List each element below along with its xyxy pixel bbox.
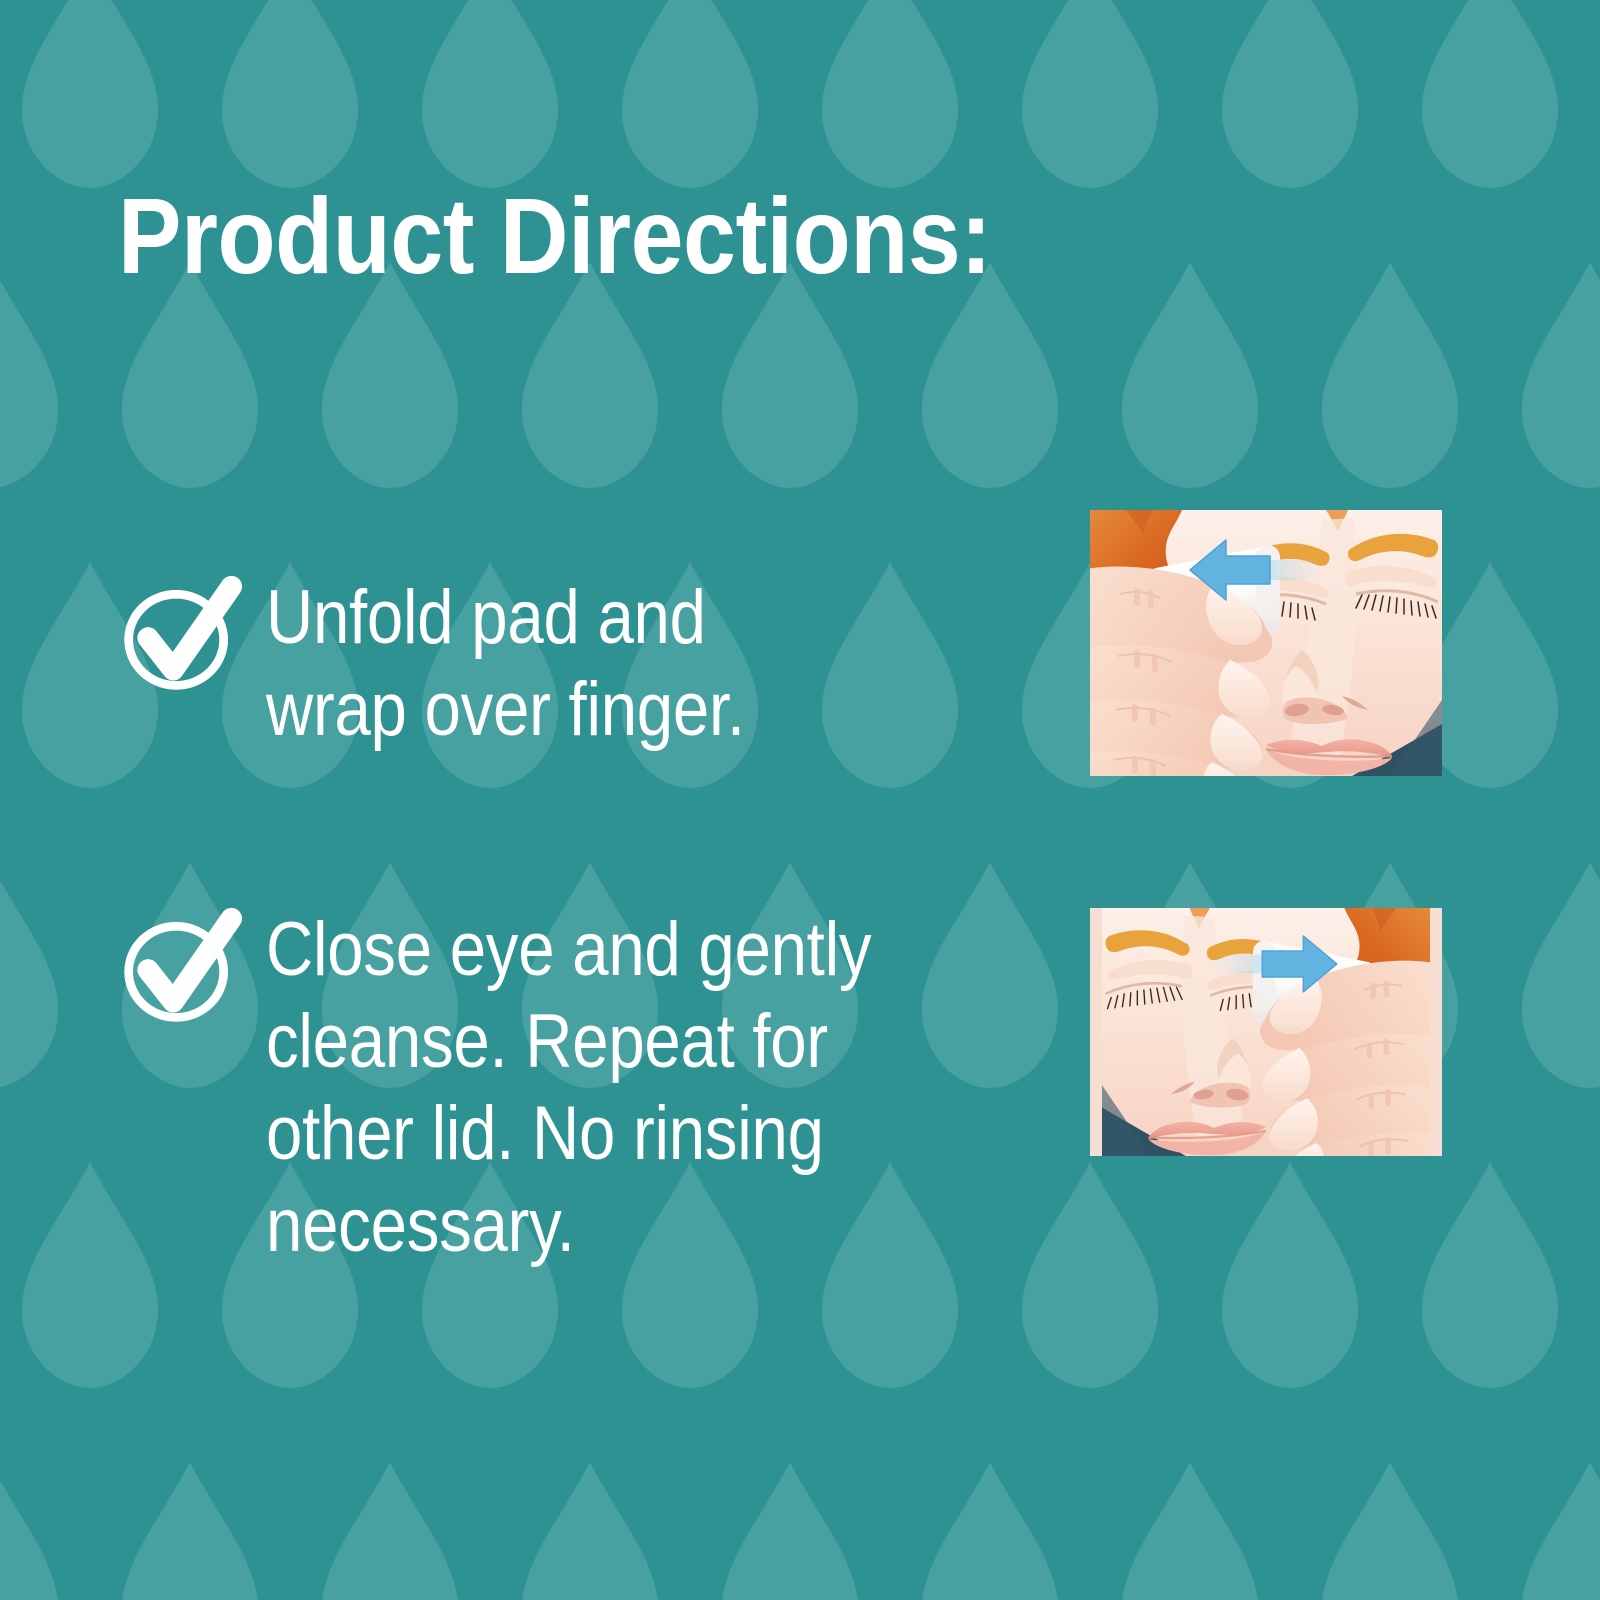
check-circle-icon	[118, 902, 244, 1028]
page-title: Product Directions:	[118, 182, 992, 290]
product-directions-poster: Product Directions: Unfold pad and wrap …	[0, 0, 1600, 1600]
illustration-cleanse-wipe-right	[1090, 908, 1442, 1156]
direction-text-2: Close eye and gently cleanse. Repeat for…	[266, 898, 871, 1272]
illustration-unfold-pad-wipe-left	[1090, 510, 1442, 776]
direction-text-1: Unfold pad and wrap over finger.	[266, 566, 745, 756]
direction-item-2: Close eye and gently cleanse. Repeat for…	[118, 898, 970, 1272]
check-circle-icon	[118, 570, 244, 696]
direction-item-1: Unfold pad and wrap over finger.	[118, 566, 823, 756]
